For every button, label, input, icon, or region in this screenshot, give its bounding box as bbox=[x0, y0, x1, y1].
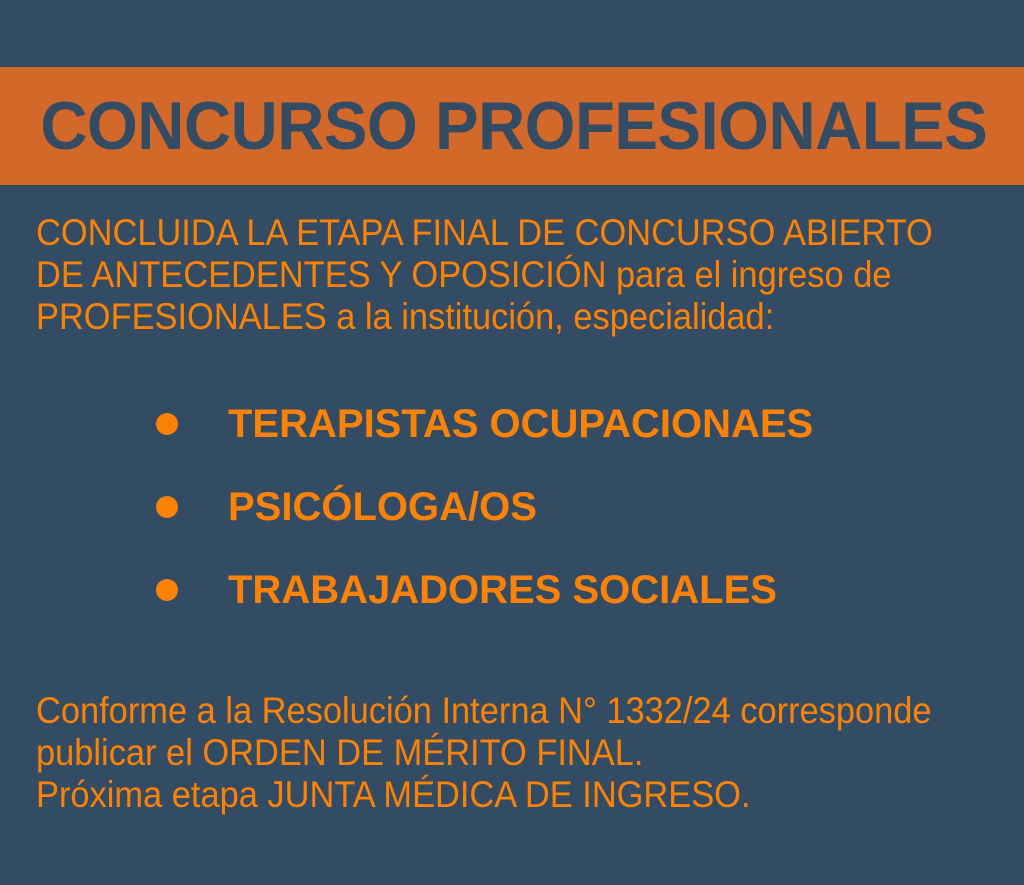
speciality-label: TERAPISTAS OCUPACIONAES bbox=[228, 402, 813, 446]
footer-line: publicar el ORDEN DE MÉRITO FINAL. bbox=[36, 732, 936, 774]
list-item: TERAPISTAS OCUPACIONAES bbox=[156, 396, 813, 451]
speciality-label: TRABAJADORES SOCIALES bbox=[228, 568, 777, 612]
list-item: TRABAJADORES SOCIALES bbox=[156, 562, 813, 617]
bullet-dot-icon bbox=[156, 579, 178, 601]
footer-line: Próxima etapa JUNTA MÉDICA DE INGRESO. bbox=[36, 774, 936, 816]
list-item: PSICÓLOGA/OS bbox=[156, 479, 813, 534]
page-title: CONCURSO PROFESIONALES bbox=[0, 91, 987, 161]
bullet-dot-icon bbox=[156, 413, 178, 435]
footer-line: Conforme a la Resolución Interna N° 1332… bbox=[36, 690, 936, 732]
intro-paragraph: CONCLUIDA LA ETAPA FINAL DE CONCURSO ABI… bbox=[36, 212, 936, 338]
footer-note: Conforme a la Resolución Interna N° 1332… bbox=[36, 690, 936, 816]
title-banner: CONCURSO PROFESIONALES bbox=[0, 67, 1024, 185]
announcement-poster: CONCURSO PROFESIONALES CONCLUIDA LA ETAP… bbox=[0, 0, 1024, 885]
bullet-dot-icon bbox=[156, 496, 178, 518]
speciality-label: PSICÓLOGA/OS bbox=[228, 485, 537, 529]
speciality-list: TERAPISTAS OCUPACIONAES PSICÓLOGA/OS TRA… bbox=[156, 396, 813, 645]
